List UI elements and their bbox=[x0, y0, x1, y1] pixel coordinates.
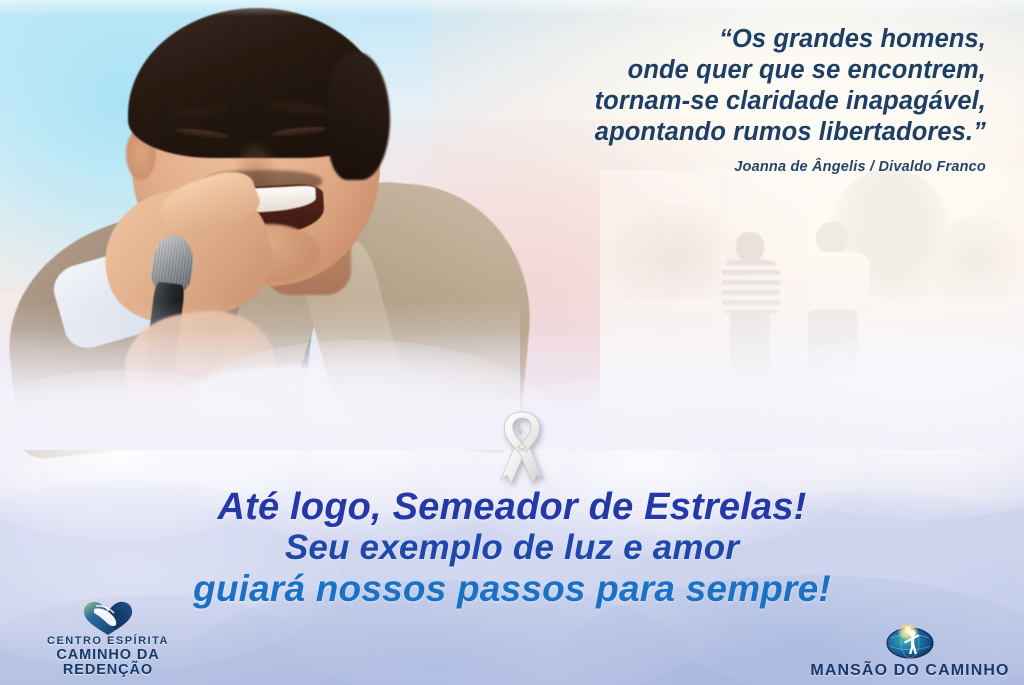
logo-left-line-2: CAMINHO DA REDENÇÃO bbox=[14, 648, 202, 679]
white-awareness-ribbon-icon bbox=[487, 409, 557, 487]
globe-figure-torch-icon bbox=[884, 624, 936, 662]
logo-right-line-1: MANSÃO DO CAMINHO bbox=[810, 662, 1009, 679]
quote-block: “Os grandes homens, onde quer que se enc… bbox=[286, 24, 986, 175]
logo-centro-espirita-caminho-da-redencao[interactable]: CENTRO ESPÍRITA CAMINHO DA REDENÇÃO bbox=[14, 598, 202, 679]
message-line-2: Seu exemplo de luz e amor bbox=[0, 528, 1024, 568]
heart-hands-icon bbox=[81, 598, 135, 636]
quote-line-2: onde quer que se encontrem, bbox=[286, 55, 986, 86]
tribute-poster: “Os grandes homens, onde quer que se enc… bbox=[0, 0, 1024, 685]
logo-right-text: MANSÃO DO CAMINHO bbox=[810, 662, 1009, 679]
quote-line-1: “Os grandes homens, bbox=[286, 24, 986, 55]
quote-attribution: Joanna de Ângelis / Divaldo Franco bbox=[286, 159, 986, 175]
message-line-1: Até logo, Semeador de Estrelas! bbox=[0, 487, 1024, 528]
quote-line-4: apontando rumos libertadores.” bbox=[286, 117, 986, 148]
logo-mansao-do-caminho[interactable]: MANSÃO DO CAMINHO bbox=[804, 624, 1016, 679]
logo-left-text: CENTRO ESPÍRITA CAMINHO DA REDENÇÃO bbox=[14, 636, 202, 679]
quote-line-3: tornam-se claridade inapagável, bbox=[286, 86, 986, 117]
logo-left-line-1: CENTRO ESPÍRITA bbox=[14, 636, 202, 648]
tribute-message: Até logo, Semeador de Estrelas! Seu exem… bbox=[0, 487, 1024, 610]
